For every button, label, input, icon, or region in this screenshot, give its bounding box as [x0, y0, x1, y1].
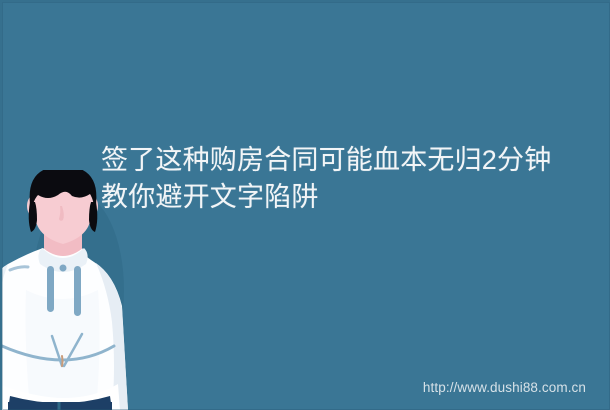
drawstring-right-shape — [74, 266, 81, 316]
drawstring-left-shape — [47, 266, 54, 312]
watermark-url: http://www.dushi88.com.cn — [423, 380, 586, 396]
drawstring-eyelet-shape — [60, 265, 67, 272]
headline-text: 签了这种购房合同可能血本无归2分钟教你避开文字陷阱 — [101, 142, 571, 216]
hoodie-body-shadow-shape — [26, 290, 100, 410]
pocket-crease-center-shape — [62, 356, 63, 366]
poster-canvas: 签了这种购房合同可能血本无归2分钟教你避开文字陷阱 http://www.dus… — [0, 0, 610, 410]
hair-sideburn-left-shape — [29, 202, 37, 232]
